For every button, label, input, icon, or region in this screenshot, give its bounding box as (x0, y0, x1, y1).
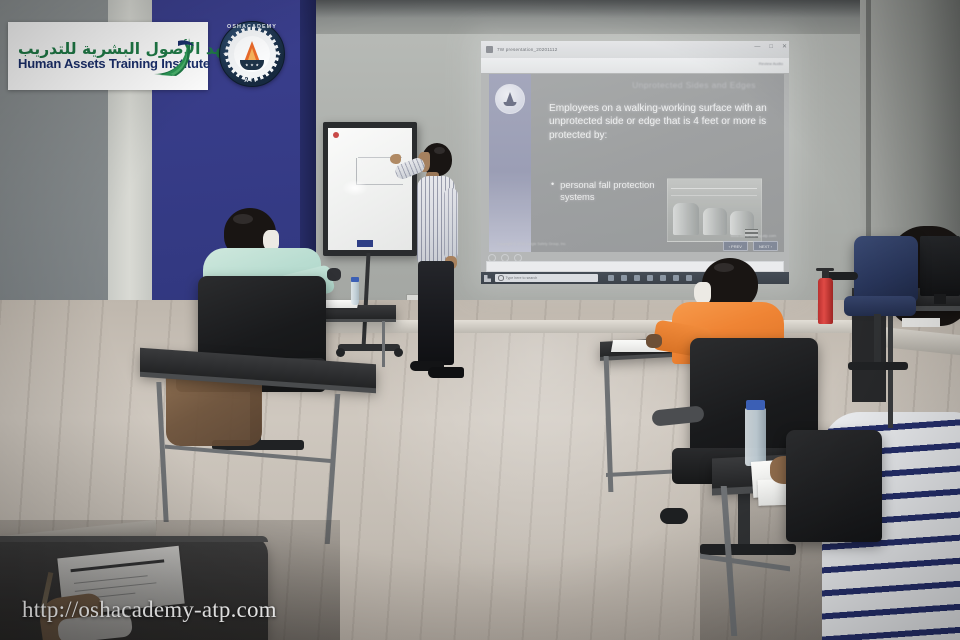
cortana-icon[interactable] (608, 275, 614, 281)
window-title: 7W presentation_20201112 (497, 47, 558, 52)
flipchart-magnet (333, 132, 339, 138)
windows-start-icon[interactable] (484, 275, 491, 282)
trainer-shoe-right (428, 367, 464, 378)
classroom-photo: 7W presentation_20201112 — □ ✕ Review Au… (0, 0, 960, 640)
edge-icon[interactable] (634, 275, 640, 281)
water-bottle-right (745, 408, 766, 466)
trainer-pointing-hand (390, 154, 401, 164)
flipchart-glare (342, 180, 368, 196)
taskbar-search-input[interactable]: Type here to search (495, 274, 598, 282)
projected-presentation: 7W presentation_20201112 — □ ✕ Review Au… (481, 41, 789, 284)
ribbon-note: Review Audio (759, 61, 783, 66)
window-controls[interactable]: — □ ✕ (754, 43, 787, 50)
badge-cup-star-2 (250, 63, 253, 66)
slide-sidebar (489, 74, 531, 252)
slide-bullet-item: • personal fall protection systems (551, 179, 661, 203)
water-bottle-cap-left (351, 277, 359, 282)
flame-shape (506, 92, 514, 103)
student-orange-hand (646, 334, 662, 348)
desk-papers-right (902, 318, 940, 327)
oshacademy-torch-icon (495, 84, 525, 114)
student-orange-face-mask (694, 282, 711, 304)
projected-window-titlebar: 7W presentation_20201112 — □ ✕ (481, 41, 789, 58)
tank-2 (703, 208, 727, 235)
next-button[interactable]: NEXT › (753, 241, 778, 251)
flipchart-caster-left (336, 348, 345, 357)
tank-1 (673, 203, 699, 235)
app-icon (486, 46, 493, 53)
institute-logo-text: معهد الأصول البشرية للتدريب Human Assets… (18, 41, 243, 71)
slide-image-storage-tanks (667, 178, 762, 242)
blue-office-chair-base (848, 362, 908, 370)
water-bottle-cap-right (746, 400, 765, 410)
prev-button[interactable]: ‹ PREV (723, 241, 748, 251)
flipchart-whiteboard (323, 122, 417, 256)
slide-title: Unprotected Sides and Edges (599, 80, 789, 90)
office-chair-right-base (700, 544, 796, 555)
explorer-icon[interactable] (647, 275, 653, 281)
student-mint-hand (327, 268, 341, 281)
flipchart-foot (338, 344, 400, 351)
desktop-monitor (920, 236, 960, 296)
institute-logo-card: معهد الأصول البشرية للتدريب Human Assets… (8, 22, 208, 90)
task-view-icon[interactable] (621, 275, 627, 281)
search-placeholder: Type here to search (506, 276, 538, 280)
desk-left-back-leg-b (382, 321, 385, 367)
ceiling-shadow (312, 0, 872, 18)
minimize-icon[interactable]: — (754, 44, 760, 50)
trainer (404, 143, 470, 378)
student-orange-hair-highlight (714, 263, 734, 272)
projected-window-ribbon: Review Audio (481, 58, 789, 73)
site-url-watermark: http://oshacademy-atp.com (22, 597, 277, 623)
water-bottle-left (351, 281, 359, 305)
office-chair-far-right[interactable] (786, 430, 882, 542)
desktop-monitor-stand (934, 294, 946, 304)
search-icon (498, 275, 504, 281)
presentation-slide: Unprotected Sides and Edges Employees on… (489, 74, 784, 252)
torch-base-shape (504, 102, 517, 106)
bullet-label: personal fall protection systems (560, 179, 661, 203)
close-icon[interactable]: ✕ (782, 43, 787, 50)
slide-footer-copyright: Copyright © 2019 Geigle Safety Group, In… (497, 242, 566, 246)
blue-office-chair[interactable] (854, 236, 918, 302)
flipchart-caster-right (394, 348, 403, 357)
rail-line-1 (671, 188, 757, 189)
badge-cup-star-1 (245, 63, 248, 66)
flipchart-paper (328, 128, 412, 250)
green-swoosh-icon (148, 34, 196, 78)
slide-navigation[interactable]: ‹ PREV NEXT › (723, 241, 778, 251)
fire-extinguisher (818, 278, 833, 324)
flipchart-clip (357, 240, 373, 247)
office-chair-right-caster (660, 508, 688, 524)
bullet-dot-icon: • (551, 179, 554, 203)
badge-cup-star-3 (256, 63, 259, 66)
trainer-trousers (418, 261, 454, 365)
rail-line-2 (671, 195, 757, 196)
blue-office-chair-post (874, 314, 881, 366)
atp-badge: OSHACADEMY ATP (219, 21, 285, 87)
maximize-icon[interactable]: □ (769, 44, 773, 50)
slide-body-text: Employees on a walking-working surface w… (549, 102, 775, 142)
blue-office-chair-seat[interactable] (844, 296, 916, 316)
trainer-hair-highlight (434, 147, 445, 154)
torch-flame-inner-icon (248, 48, 256, 60)
trainer-lower-arm (444, 188, 458, 260)
student-mint-hair-highlight (233, 214, 253, 224)
slide-footer-url: www.oshacademy-atp.com (731, 234, 776, 238)
institute-name-english: Human Assets Training Institute (18, 57, 243, 71)
institute-name-arabic: معهد الأصول البشرية للتدريب (18, 41, 243, 57)
